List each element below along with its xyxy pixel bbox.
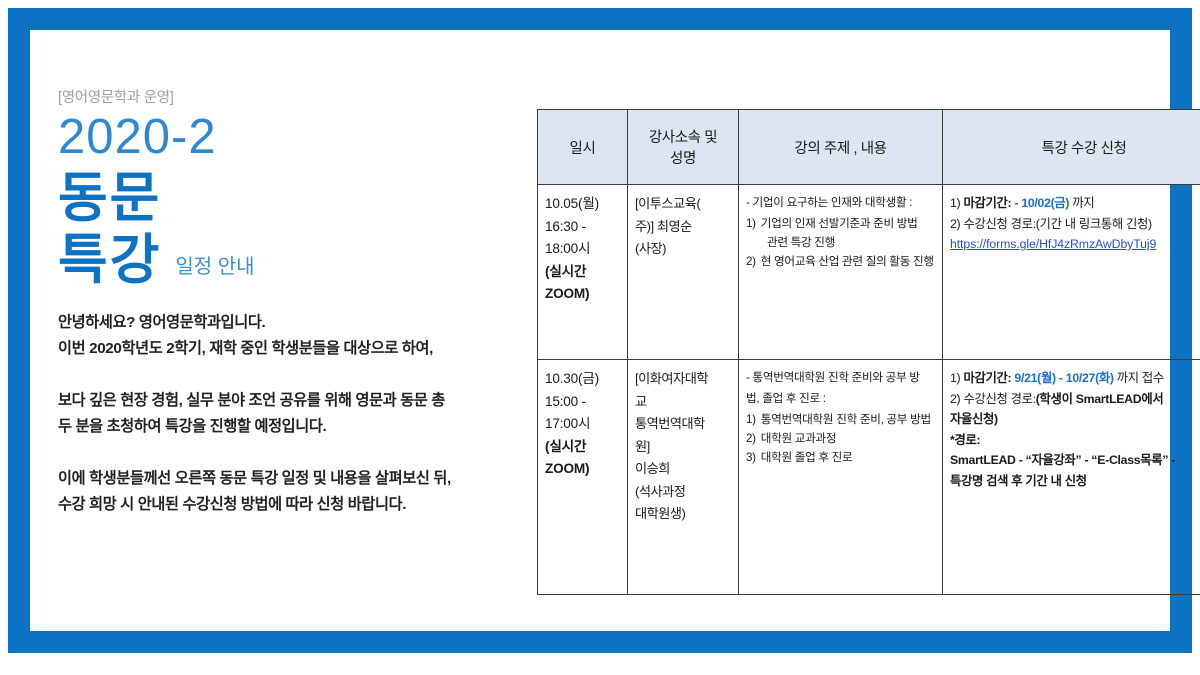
intro-p2-line1: 보다 깊은 현장 경험, 실무 분야 조언 공유를 위해 영문과 동문 총 bbox=[58, 388, 528, 414]
th-instructor-line2: 성명 bbox=[635, 147, 731, 168]
topic-item-text: 기업의 인재 선발기준과 준비 방법 bbox=[761, 214, 918, 233]
topic-item: 관련 특강 진행 bbox=[746, 233, 935, 252]
topic-item-number: 2) bbox=[746, 252, 756, 271]
page-subtitle: 일정 안내 bbox=[175, 250, 254, 291]
apply-link-wrap-1: https://forms.gle/HfJ4zRmzAwDbyTuj9 bbox=[950, 234, 1200, 255]
deadline-line-2: 1) 마감기간: 9/21(월) - 10/27(화) 까지 접수 bbox=[950, 368, 1200, 389]
cell-instructor-2: [이화여자대학 교 통역번역대학 원] 이승희 (석사과정 대학원생) bbox=[628, 360, 739, 595]
deadline-suffix-1: 까지 bbox=[1072, 196, 1094, 210]
deadline-date-1: - 10/02(금) bbox=[1011, 196, 1072, 210]
topic-item-text: 대학원 교과과정 bbox=[761, 429, 837, 448]
route-label-2: 2) 수강신청 경로: bbox=[950, 392, 1036, 406]
table-body: 10.05(월) 16:30 - 18:00시 (실시간 ZOOM) [이투스교… bbox=[538, 185, 1200, 595]
schedule-table: 일시 강사소속 및 성명 강의 주제 , 내용 특강 수강 신청 10.05(월… bbox=[537, 109, 1200, 595]
semester-year: 2020-2 bbox=[58, 109, 498, 165]
th-instructor-line1: 강사소속 및 bbox=[635, 126, 731, 147]
intro-p3-line1: 이에 학생분들께선 오른쪽 동문 특강 일정 및 내용을 살펴보신 뒤, bbox=[58, 466, 528, 492]
topic-list-2: 1) 통역번역대학원 진학 준비, 공부 방법 2) 대학원 교과과정 3) 대… bbox=[746, 410, 935, 467]
intro-p1-line2: 이번 2020학년도 2학기, 재학 중인 학생분들을 대상으로 하여, bbox=[58, 336, 528, 362]
topic-lead-1: - 기업이 요구하는 인재와 대학생활 : bbox=[746, 193, 935, 212]
intro-paragraphs: 안녕하세요? 영어영문학과입니다. 이번 2020학년도 2학기, 재학 중인 … bbox=[58, 310, 528, 518]
intro-p3-line2: 수강 희망 시 안내된 수강신청 방법에 따라 신청 바랍니다. bbox=[58, 492, 528, 518]
topic-item: 1) 기업의 인재 선발기준과 준비 방법 bbox=[746, 214, 935, 233]
instructor-affil-2d: 원] bbox=[635, 436, 731, 459]
path-label-2: *경로: bbox=[950, 430, 1200, 451]
time-end-1: 18:00시 bbox=[545, 238, 620, 261]
cell-instructor-1: [이투스교육( 주)] 최영순 (사장) bbox=[628, 185, 739, 360]
application-form-link[interactable]: https://forms.gle/HfJ4zRmzAwDbyTuj9 bbox=[950, 234, 1156, 255]
cell-datetime-1: 10.05(월) 16:30 - 18:00시 (실시간 ZOOM) bbox=[538, 185, 628, 360]
topic-item-number: 3) bbox=[746, 448, 756, 467]
department-tag: [영어영문학과 운영] bbox=[58, 86, 498, 107]
topic-item: 3) 대학원 졸업 후 진로 bbox=[746, 448, 935, 467]
th-application: 특강 수강 신청 bbox=[943, 110, 1200, 185]
schedule-table-wrapper: 일시 강사소속 및 성명 강의 주제 , 내용 특강 수강 신청 10.05(월… bbox=[537, 109, 1165, 595]
frame-left-band bbox=[8, 8, 30, 653]
topic-item: 1) 통역번역대학원 진학 준비, 공부 방법 bbox=[746, 410, 935, 429]
instructor-affil-2a: [이화여자대학 bbox=[635, 368, 731, 391]
mode-line2-2: ZOOM) bbox=[545, 458, 620, 481]
route-line-2b: 자율신청) bbox=[950, 409, 1200, 430]
instructor-affil-2c: 통역번역대학 bbox=[635, 413, 731, 436]
time-end-2: 17:00시 bbox=[545, 413, 620, 436]
instructor-affil-2b: 교 bbox=[635, 391, 731, 414]
main-title-row2: 특강 일정 안내 bbox=[58, 229, 498, 291]
topic-item-number: 1) bbox=[746, 214, 756, 233]
th-instructor: 강사소속 및 성명 bbox=[628, 110, 739, 185]
deadline-line-1: 1) 마감기간: - 10/02(금) 까지 bbox=[950, 193, 1200, 214]
topic-item-text: 통역번역대학원 진학 준비, 공부 방법 bbox=[761, 410, 931, 429]
deadline-label-2: 마감기간: bbox=[963, 371, 1011, 385]
instructor-role-2b: 대학원생) bbox=[635, 503, 731, 526]
time-start-1: 16:30 - bbox=[545, 216, 620, 239]
mode-line2-1: ZOOM) bbox=[545, 283, 620, 306]
cell-application-2: 1) 마감기간: 9/21(월) - 10/27(화) 까지 접수 2) 수강신… bbox=[943, 360, 1200, 595]
instructor-name-1: 주)] 최영순 bbox=[635, 216, 731, 239]
topic-item-text: 현 영어교육 산업 관련 질의 활동 진행 bbox=[761, 252, 934, 271]
route-value-2: (학생이 SmartLEAD에서 bbox=[1036, 392, 1164, 406]
cell-topic-2: - 통역번역대학원 진학 준비와 공부 방 법, 졸업 후 진로 : 1) 통역… bbox=[739, 360, 943, 595]
th-datetime: 일시 bbox=[538, 110, 628, 185]
slide-canvas: [영어영문학과 운영] 2020-2 동문 특강 일정 안내 안녕하세요? 영어… bbox=[0, 0, 1200, 675]
intro-p1-line1: 안녕하세요? 영어영문학과입니다. bbox=[58, 310, 528, 336]
path-final-2: 특강명 검색 후 기간 내 신청 bbox=[950, 471, 1200, 492]
route-line-1: 2) 수강신청 경로:(기간 내 링크통해 긴청) bbox=[950, 214, 1200, 235]
time-start-2: 15:00 - bbox=[545, 391, 620, 414]
topic-item: 2) 현 영어교육 산업 관련 질의 활동 진행 bbox=[746, 252, 935, 271]
paragraph-gap-1 bbox=[58, 362, 528, 388]
topic-lead-2a: - 통역번역대학원 진학 준비와 공부 방 bbox=[746, 368, 935, 387]
cell-application-1: 1) 마감기간: - 10/02(금) 까지 2) 수강신청 경로:(기간 내 … bbox=[943, 185, 1200, 360]
deadline-date-2: 9/21(월) - 10/27(화) bbox=[1011, 371, 1113, 385]
table-head: 일시 강사소속 및 성명 강의 주제 , 내용 특강 수강 신청 bbox=[538, 110, 1200, 185]
date-1: 10.05(월) bbox=[545, 193, 620, 216]
frame-top-band bbox=[8, 8, 1192, 30]
frame-bottom-band bbox=[8, 631, 1192, 653]
topic-lead-2b: 법, 졸업 후 진로 : bbox=[746, 389, 935, 408]
deadline-prefix-2: 1) bbox=[950, 371, 963, 385]
route-line-2: 2) 수강신청 경로:(학생이 SmartLEAD에서 bbox=[950, 389, 1200, 410]
cell-topic-1: - 기업이 요구하는 인재와 대학생활 : 1) 기업의 인재 선발기준과 준비… bbox=[739, 185, 943, 360]
table-row: 10.30(금) 15:00 - 17:00시 (실시간 ZOOM) [이화여자… bbox=[538, 360, 1200, 595]
main-title-line1: 동문 bbox=[58, 167, 498, 229]
deadline-suffix-2: 까지 접수 bbox=[1114, 371, 1164, 385]
topic-list-1: 1) 기업의 인재 선발기준과 준비 방법 관련 특강 진행 2) 현 영어교육… bbox=[746, 214, 935, 271]
topic-item-text: 대학원 졸업 후 진로 bbox=[761, 448, 853, 467]
topic-item: 2) 대학원 교과과정 bbox=[746, 429, 935, 448]
instructor-affil-1a: [이투스교육( bbox=[635, 193, 731, 216]
date-2: 10.30(금) bbox=[545, 368, 620, 391]
topic-item-number: 1) bbox=[746, 410, 756, 429]
table-header-row: 일시 강사소속 및 성명 강의 주제 , 내용 특강 수강 신청 bbox=[538, 110, 1200, 185]
instructor-role-1: (사장) bbox=[635, 238, 731, 261]
mode-line1-1: (실시간 bbox=[545, 261, 620, 284]
instructor-name-2: 이승희 bbox=[635, 458, 731, 481]
table-row: 10.05(월) 16:30 - 18:00시 (실시간 ZOOM) [이투스교… bbox=[538, 185, 1200, 360]
deadline-label-1: 마감기간: bbox=[963, 196, 1011, 210]
title-block: [영어영문학과 운영] 2020-2 동문 특강 일정 안내 bbox=[58, 86, 498, 291]
intro-p2-line2: 두 분을 초청하여 특강을 진행할 예정입니다. bbox=[58, 414, 528, 440]
deadline-prefix-1: 1) bbox=[950, 196, 963, 210]
topic-item-text: 관련 특강 진행 bbox=[746, 233, 835, 252]
mode-line1-2: (실시간 bbox=[545, 436, 620, 459]
th-topic: 강의 주제 , 내용 bbox=[739, 110, 943, 185]
main-title-line2: 특강 bbox=[58, 229, 161, 291]
paragraph-gap-2 bbox=[58, 440, 528, 466]
instructor-role-2a: (석사과정 bbox=[635, 481, 731, 504]
path-steps-2: SmartLEAD - “자율강좌” - “E-Class목록” - bbox=[950, 450, 1200, 471]
topic-item-number: 2) bbox=[746, 429, 756, 448]
cell-datetime-2: 10.30(금) 15:00 - 17:00시 (실시간 ZOOM) bbox=[538, 360, 628, 595]
